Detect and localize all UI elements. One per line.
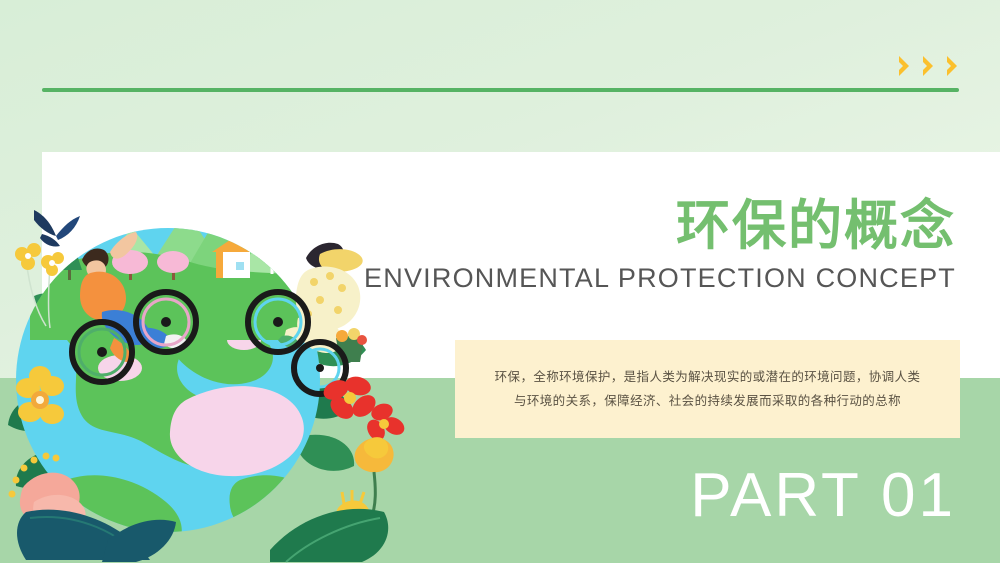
top-divider-rule — [42, 88, 959, 92]
swallow-bird — [34, 210, 80, 247]
chevron-right-icon — [945, 54, 959, 78]
earth-eco-illustration — [0, 150, 410, 563]
chevron-right-icon — [921, 54, 935, 78]
chevron-right-icon — [897, 54, 911, 78]
part-label: PART 01 — [690, 462, 956, 530]
description-note-box: 环保，全称环境保护，是指人类为解决现实的或潜在的环境问题，协调人类与环境的关系，… — [455, 340, 960, 438]
red-flower — [320, 374, 407, 444]
page-title-cn: 环保的概念 — [676, 196, 956, 256]
slide-root: 环保的概念 ENVIRONMENTAL PROTECTION CONCEPT 环… — [0, 0, 1000, 563]
chevron-group — [897, 53, 959, 79]
description-note-text: 环保，全称环境保护，是指人类为解决现实的或潜在的环境问题，协调人类与环境的关系，… — [493, 365, 923, 413]
page-subtitle-en: ENVIRONMENTAL PROTECTION CONCEPT — [364, 262, 956, 294]
